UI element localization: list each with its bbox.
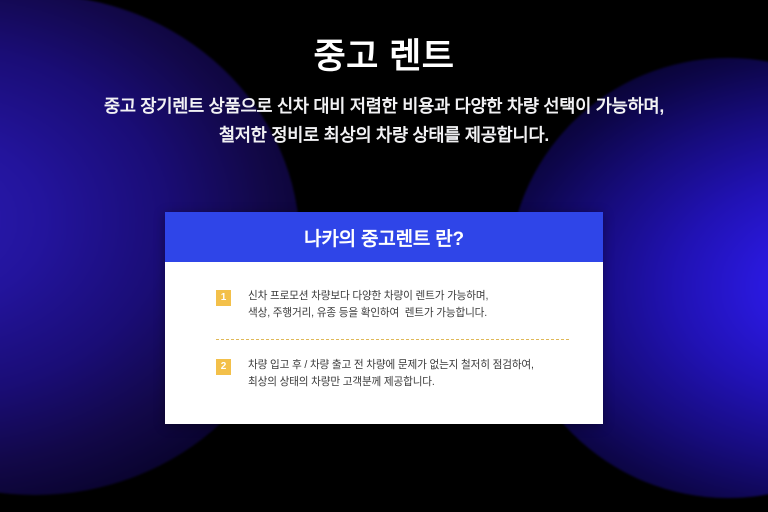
- info-card-title: 나카의 중고렌트 란?: [304, 224, 464, 251]
- item-number-badge: 2: [216, 359, 231, 375]
- info-card: 나카의 중고렌트 란? 1 신차 프로모션 차량보다 다양한 차량이 렌트가 가…: [165, 212, 603, 424]
- info-card-body: 1 신차 프로모션 차량보다 다양한 차량이 렌트가 가능하며, 색상, 주행거…: [165, 262, 603, 424]
- list-item: 2 차량 입고 후 / 차량 출고 전 차량에 문제가 없는지 철저히 점검하여…: [165, 357, 603, 390]
- page-subtitle: 중고 장기렌트 상품으로 신차 대비 저렴한 비용과 다양한 차량 선택이 가능…: [0, 76, 768, 149]
- item-description-line-2: 최상의 상태의 차량만 고객분께 제공합니다.: [248, 374, 534, 391]
- hero-section: 중고 렌트 중고 장기렌트 상품으로 신차 대비 저렴한 비용과 다양한 차량 …: [0, 0, 768, 149]
- item-description: 차량 입고 후 / 차량 출고 전 차량에 문제가 없는지 철저히 점검하여, …: [248, 357, 534, 390]
- item-description-line-1: 신차 프로모션 차량보다 다양한 차량이 렌트가 가능하며,: [248, 288, 488, 305]
- page-subtitle-line-2: 철저한 정비로 최상의 차량 상태를 제공합니다.: [0, 121, 768, 149]
- list-item: 1 신차 프로모션 차량보다 다양한 차량이 렌트가 가능하며, 색상, 주행거…: [165, 288, 603, 321]
- item-description-line-2: 색상, 주행거리, 유종 등을 확인하여 렌트가 가능합니다.: [248, 305, 488, 322]
- page-stage: 중고 렌트 중고 장기렌트 상품으로 신차 대비 저렴한 비용과 다양한 차량 …: [0, 0, 768, 512]
- item-number-badge: 1: [216, 290, 231, 306]
- item-description-line-1: 차량 입고 후 / 차량 출고 전 차량에 문제가 없는지 철저히 점검하여,: [248, 357, 534, 374]
- page-subtitle-line-1: 중고 장기렌트 상품으로 신차 대비 저렴한 비용과 다양한 차량 선택이 가능…: [0, 92, 768, 120]
- item-divider: [216, 339, 569, 340]
- item-description: 신차 프로모션 차량보다 다양한 차량이 렌트가 가능하며, 색상, 주행거리,…: [248, 288, 488, 321]
- info-card-header: 나카의 중고렌트 란?: [165, 212, 603, 262]
- page-title: 중고 렌트: [0, 0, 768, 76]
